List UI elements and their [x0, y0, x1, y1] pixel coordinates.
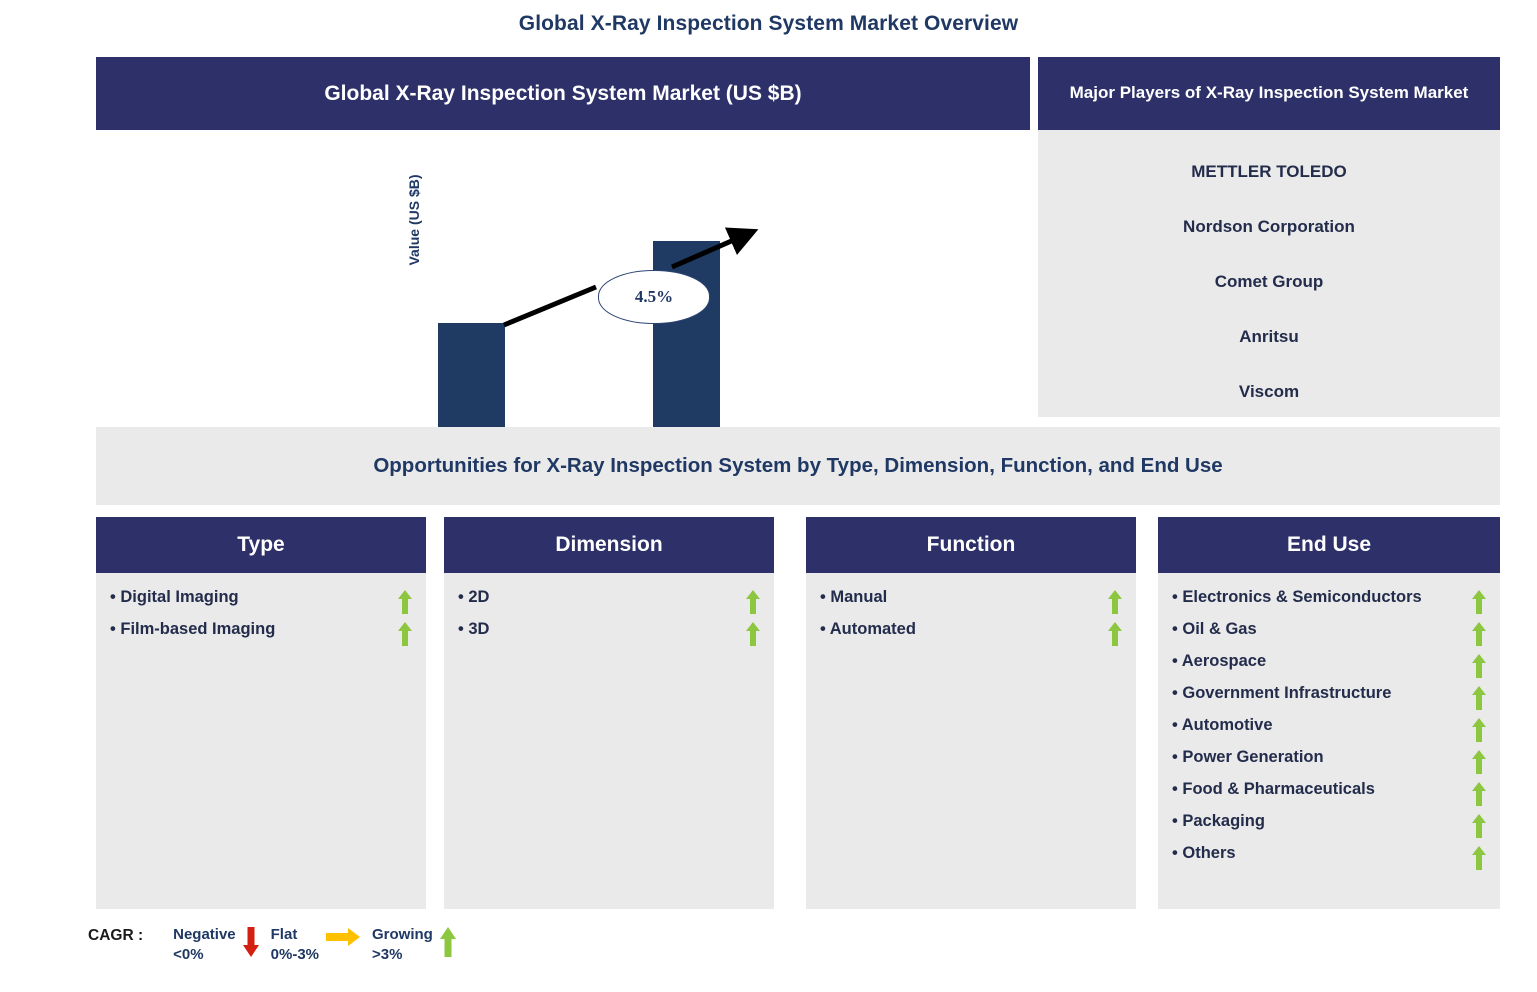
arrow-up-green-icon: [440, 927, 456, 957]
opportunity-label: • Digital Imaging: [117, 585, 239, 611]
list-item: • Automated: [806, 617, 1136, 649]
opportunities-banner-title: Opportunities for X-Ray Inspection Syste…: [373, 454, 1222, 478]
cagr-legend-title: CAGR :: [88, 927, 143, 945]
legend-flat-text: Flat 0%-3%: [271, 925, 319, 966]
list-item: • Aerospace: [1158, 649, 1500, 681]
arrow-up-green-icon: [1472, 686, 1486, 710]
arrow-up-green-icon: [398, 590, 412, 614]
chart-y-axis-label: Value (US $B): [406, 140, 422, 300]
column-header-function: Function: [806, 517, 1136, 573]
arrow-up-green-icon: [1472, 622, 1486, 646]
opportunity-label: • Others: [1179, 841, 1236, 867]
column-end-use: End Use • Electronics & Semiconductors •…: [1158, 517, 1500, 909]
arrow-up-green-icon: [1472, 782, 1486, 806]
list-item: Viscom: [1038, 379, 1500, 434]
opportunity-label: • Aerospace: [1179, 649, 1266, 675]
opportunities-banner: Opportunities for X-Ray Inspection Syste…: [96, 427, 1500, 505]
cagr-value: 4.5%: [635, 287, 673, 307]
list-item: • 3D: [444, 617, 774, 649]
opportunity-label: • Packaging: [1179, 809, 1265, 835]
column-body-function: • Manual • Automated: [806, 573, 1136, 909]
opportunity-label: • Film-based Imaging: [117, 617, 275, 643]
legend-item-negative: Negative <0%: [173, 925, 259, 966]
column-body-dimension: • 2D • 3D: [444, 573, 774, 909]
column-title: Function: [927, 533, 1016, 557]
arrow-down-red-icon: [243, 927, 259, 957]
list-item: • Film-based Imaging: [96, 617, 426, 649]
column-type: Type • Digital Imaging • Film-based Imag…: [96, 517, 426, 909]
list-item: • Oil & Gas: [1158, 617, 1500, 649]
column-title: End Use: [1287, 533, 1371, 557]
arrow-up-green-icon: [1472, 750, 1486, 774]
opportunity-label: • 3D: [465, 617, 489, 643]
column-body-end-use: • Electronics & Semiconductors • Oil & G…: [1158, 573, 1500, 909]
legend-growing-text: Growing >3%: [372, 925, 433, 966]
list-item: • Others: [1158, 841, 1500, 873]
list-item: • Packaging: [1158, 809, 1500, 841]
list-item: Anritsu: [1038, 324, 1500, 379]
arrow-up-green-icon: [1108, 622, 1122, 646]
opportunity-label: • Power Generation: [1179, 745, 1324, 771]
chart-panel-header: Global X-Ray Inspection System Market (U…: [96, 57, 1030, 130]
legend-negative-range: <0%: [173, 945, 236, 965]
market-chart-panel: Global X-Ray Inspection System Market (U…: [96, 57, 1030, 417]
page-title: Global X-Ray Inspection System Market Ov…: [0, 12, 1537, 36]
opportunity-label: • Automated: [827, 617, 916, 643]
opportunity-columns: Type • Digital Imaging • Film-based Imag…: [96, 517, 1500, 909]
legend-flat-label: Flat: [271, 926, 298, 943]
list-item: • Manual: [806, 585, 1136, 617]
column-dimension: Dimension • 2D • 3D: [444, 517, 774, 909]
legend-negative-label: Negative: [173, 926, 236, 943]
chart-panel-title: Global X-Ray Inspection System Market (U…: [324, 82, 801, 106]
opportunity-label: • 2D: [465, 585, 489, 611]
major-players-header: Major Players of X-Ray Inspection System…: [1038, 57, 1500, 130]
bar-chart: Value (US $B) 2025 2031 4.5% Source : Lu…: [96, 130, 1030, 417]
cagr-callout-bubble: 4.5%: [598, 270, 710, 324]
major-players-title: Major Players of X-Ray Inspection System…: [1048, 82, 1491, 104]
arrow-up-green-icon: [1472, 718, 1486, 742]
opportunity-label: • Food & Pharmaceuticals: [1179, 777, 1375, 803]
opportunity-label: • Oil & Gas: [1179, 617, 1257, 643]
cagr-legend: CAGR : Negative <0% Flat 0%-3% Growing >…: [88, 925, 468, 975]
column-function: Function • Manual • Automated: [806, 517, 1136, 909]
list-item: Comet Group: [1038, 269, 1500, 324]
list-item: • Power Generation: [1158, 745, 1500, 777]
column-header-end-use: End Use: [1158, 517, 1500, 573]
list-item: METTLER TOLEDO: [1038, 159, 1500, 214]
arrow-up-green-icon: [398, 622, 412, 646]
column-body-type: • Digital Imaging • Film-based Imaging: [96, 573, 426, 909]
column-title: Type: [237, 533, 284, 557]
major-players-panel: Major Players of X-Ray Inspection System…: [1038, 57, 1500, 417]
list-item: • Digital Imaging: [96, 585, 426, 617]
arrow-right-amber-icon: [326, 927, 360, 947]
opportunity-label: • Electronics & Semiconductors: [1179, 585, 1422, 611]
infographic-page: Global X-Ray Inspection System Market Ov…: [0, 0, 1537, 992]
list-item: • Food & Pharmaceuticals: [1158, 777, 1500, 809]
arrow-up-green-icon: [746, 590, 760, 614]
list-item: • 2D: [444, 585, 774, 617]
opportunity-label: • Government Infrastructure: [1179, 681, 1391, 707]
legend-item-flat: Flat 0%-3%: [271, 925, 360, 966]
arrow-up-green-icon: [1472, 590, 1486, 614]
arrow-up-green-icon: [1108, 590, 1122, 614]
major-players-list: METTLER TOLEDO Nordson Corporation Comet…: [1038, 130, 1500, 417]
list-item: • Government Infrastructure: [1158, 681, 1500, 713]
arrow-up-green-icon: [1472, 654, 1486, 678]
arrow-up-green-icon: [1472, 814, 1486, 838]
column-title: Dimension: [555, 533, 662, 557]
legend-item-growing: Growing >3%: [372, 925, 456, 966]
opportunity-label: • Manual: [827, 585, 887, 611]
legend-growing-range: >3%: [372, 945, 433, 965]
column-header-dimension: Dimension: [444, 517, 774, 573]
list-item: • Electronics & Semiconductors: [1158, 585, 1500, 617]
arrow-up-green-icon: [746, 622, 760, 646]
arrow-up-green-icon: [1472, 846, 1486, 870]
legend-growing-label: Growing: [372, 926, 433, 943]
column-header-type: Type: [96, 517, 426, 573]
legend-negative-text: Negative <0%: [173, 925, 236, 966]
list-item: • Automotive: [1158, 713, 1500, 745]
legend-flat-range: 0%-3%: [271, 945, 319, 965]
opportunity-label: • Automotive: [1179, 713, 1273, 739]
list-item: Nordson Corporation: [1038, 214, 1500, 269]
